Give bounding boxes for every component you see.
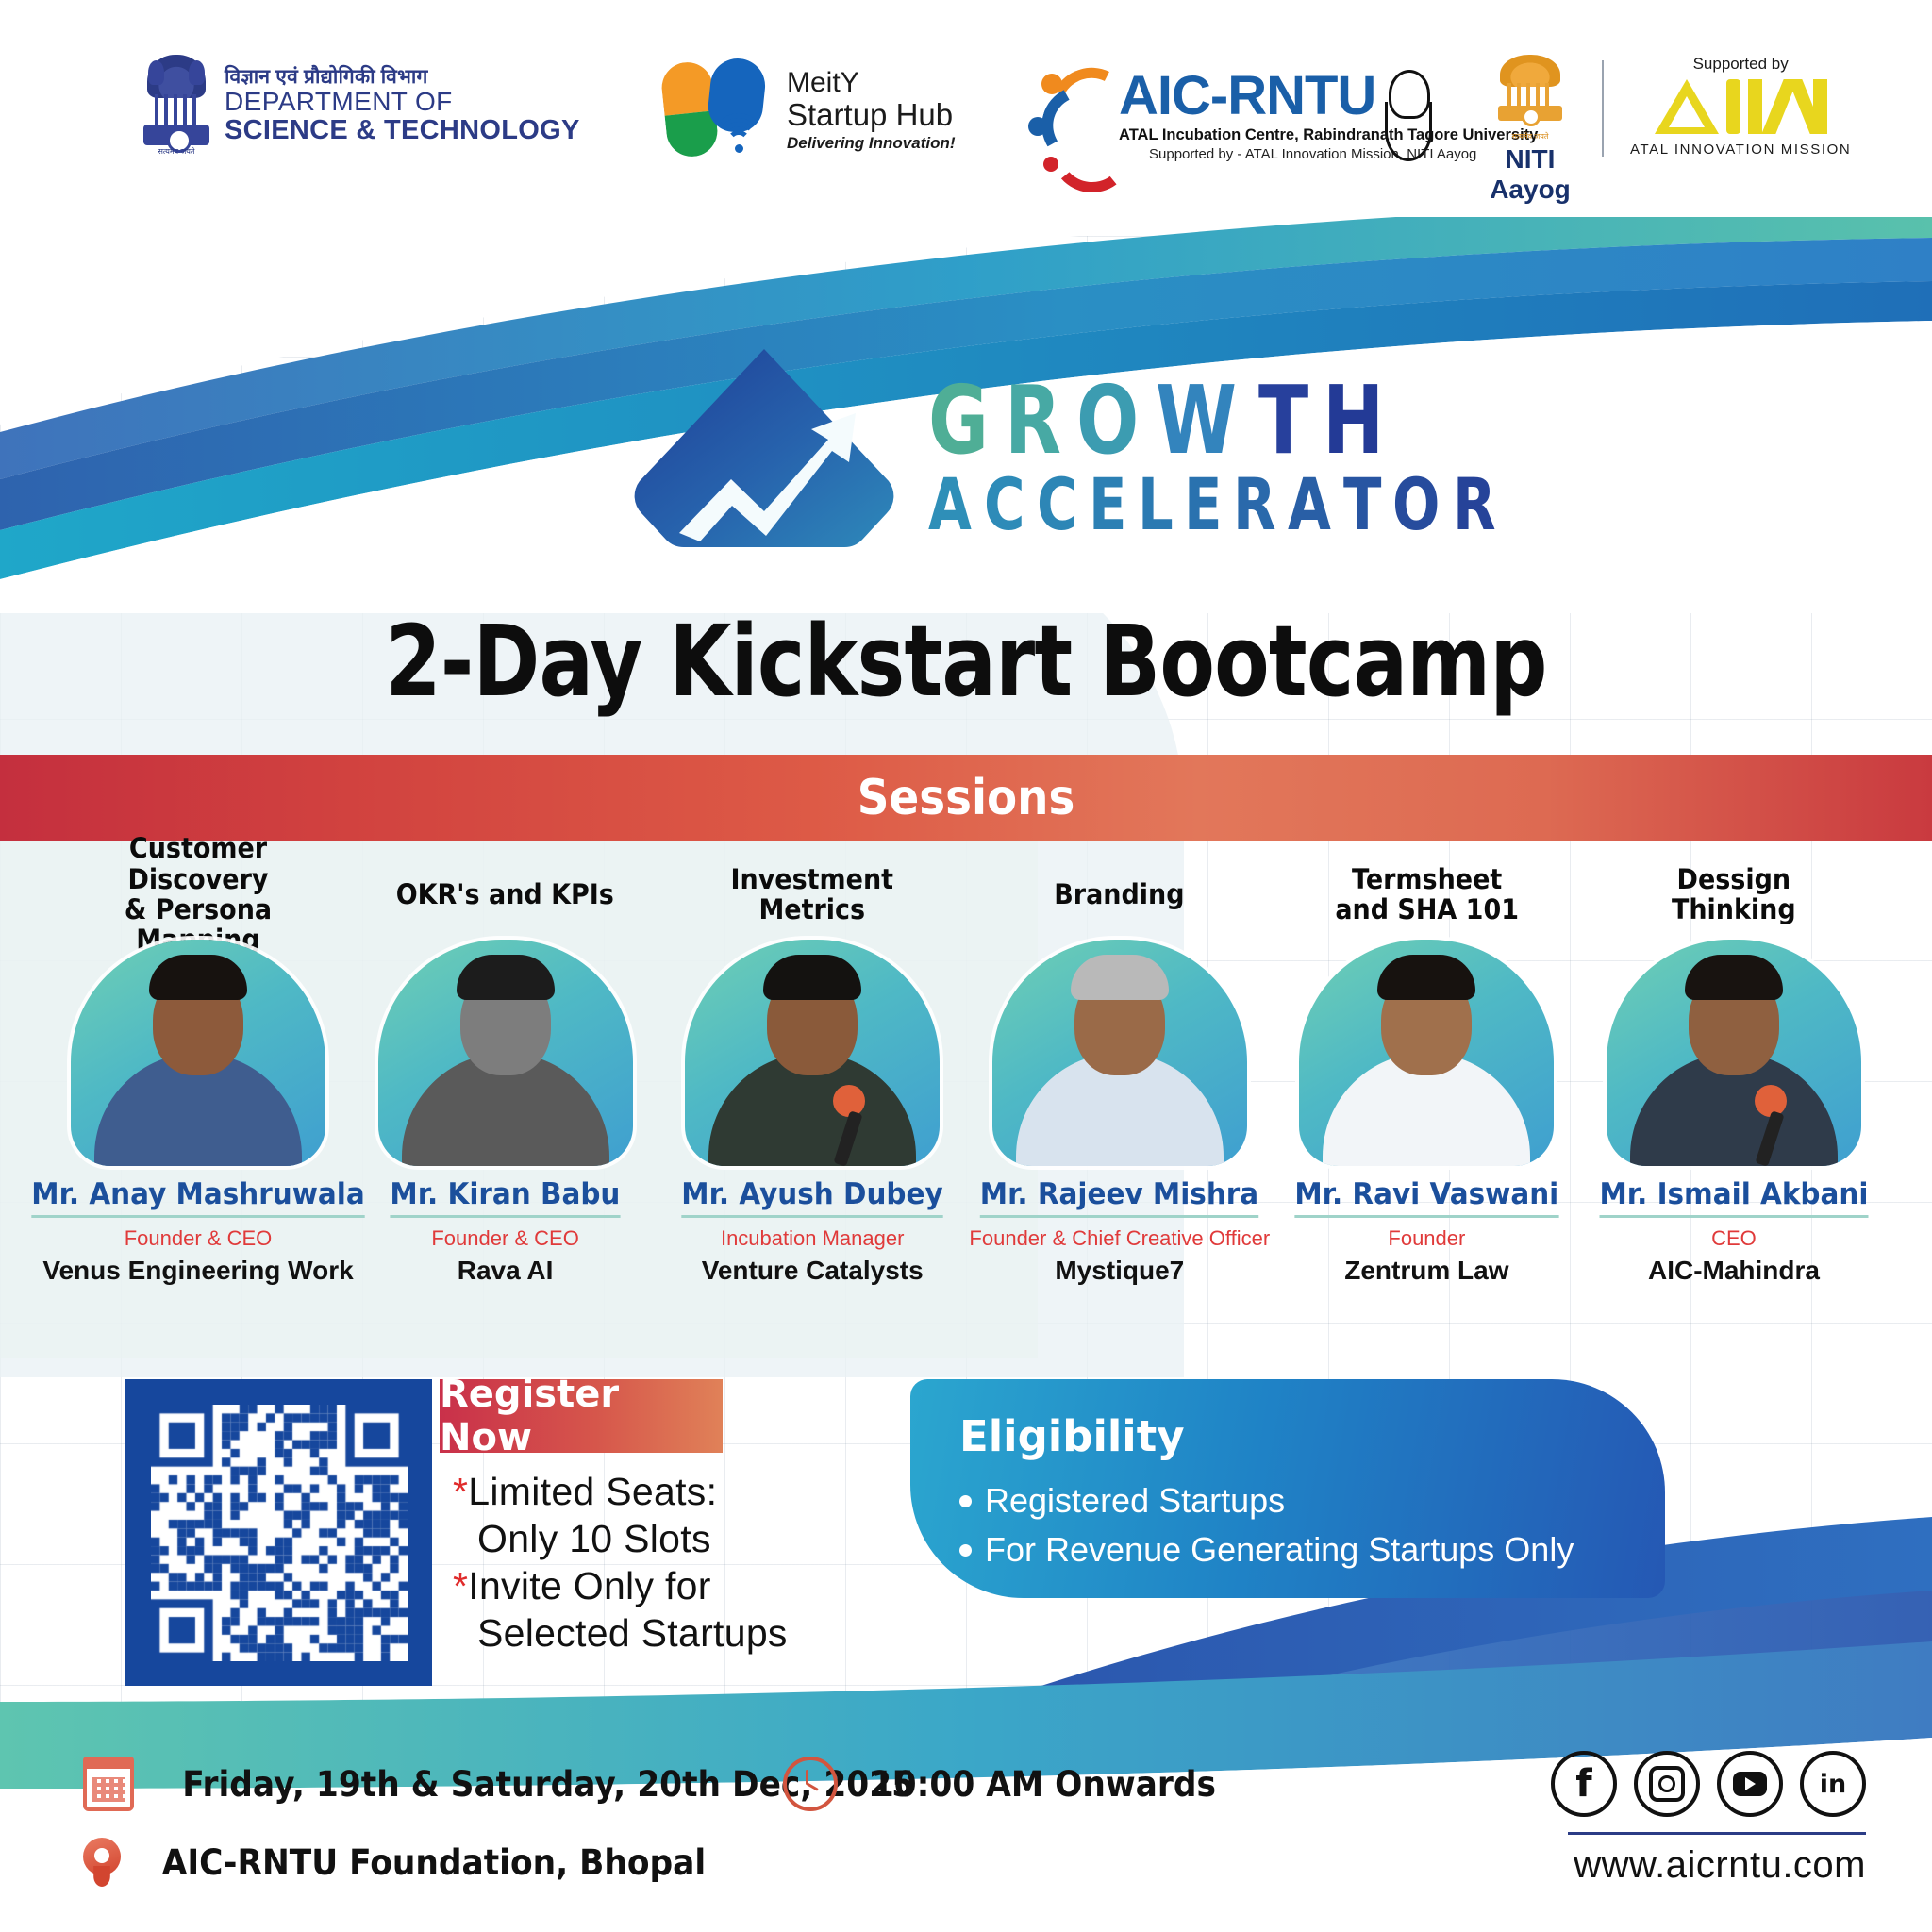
speaker-photo (378, 940, 633, 1166)
speaker-name: Mr. Rajeev Mishra (980, 1177, 1258, 1218)
speaker-name: Mr. Ayush Dubey (681, 1177, 942, 1218)
speaker-topic: OKR's and KPIs (396, 849, 614, 940)
register-note: *Limited Seats: (453, 1468, 849, 1515)
logo-department-of-science-technology: सत्यमेव जयते विज्ञान एवं प्रौद्योगिकी वि… (142, 55, 580, 157)
footer: Friday, 19th & Saturday, 20th Dec, 2025 … (0, 1734, 1932, 1932)
brand-word-accelerator: ACCELERATOR (928, 469, 1508, 541)
registration-qr-code[interactable] (151, 1405, 408, 1661)
ashoka-emblem-icon: सत्यमेव जयते (142, 55, 211, 157)
dst-line2: SCIENCE & TECHNOLOGY (225, 116, 580, 144)
speaker-name: Mr. Ismail Akbani (1599, 1177, 1868, 1218)
speaker-card: Termsheetand SHA 101Mr. Ravi VaswaniFoun… (1285, 849, 1568, 1340)
brand-word-growth: GROWTH (928, 375, 1508, 467)
speaker-card: OKR's and KPIsMr. Kiran BabuFounder & CE… (364, 849, 647, 1340)
logo-meity-startup-hub: MeitY Startup Hub Delivering Innovation! (660, 57, 956, 162)
speaker-photo (1299, 940, 1554, 1166)
aic-title: AIC-RNTU (1119, 64, 1375, 127)
speaker-topic: DessignThinking (1672, 849, 1796, 940)
speaker-name: Mr. Anay Mashruwala (31, 1177, 364, 1218)
speaker-photo (71, 940, 325, 1166)
partner-logo-strip: सत्यमेव जयते विज्ञान एवं प्रौद्योगिकी वि… (0, 0, 1932, 217)
bullet-icon (959, 1495, 972, 1507)
speaker-org: AIC-Mahindra (1648, 1256, 1820, 1286)
speaker-card: BrandingMr. Rajeev MishraFounder & Chief… (978, 849, 1261, 1340)
aim-block: Supported by ATAL INNOVATION MISSION (1630, 55, 1851, 158)
aic-subtitle-1: ATAL Incubation Centre, Rabindranath Tag… (1119, 126, 1538, 144)
facebook-icon[interactable]: f (1551, 1751, 1617, 1817)
niti-aayog-block: सत्यमेव जयते NITI Aayog (1481, 55, 1579, 205)
poster-root: सत्यमेव जयते विज्ञान एवं प्रौद्योगिकी वि… (0, 0, 1932, 1932)
logo-divider (1602, 60, 1604, 157)
speaker-photo (685, 940, 940, 1166)
register-now-banner[interactable]: Register Now (440, 1379, 723, 1453)
logo-niti-aayog-and-aim: सत्यमेव जयते NITI Aayog Supported by ATA… (1481, 55, 1851, 205)
register-note: Only 10 Slots (453, 1515, 849, 1562)
page-title: 2-Day Kickstart Bootcamp (174, 604, 1757, 719)
website-block[interactable]: www.aicrntu.com (1568, 1832, 1866, 1887)
speaker-org: Venus Engineering Work (42, 1256, 353, 1286)
speaker-topic: Branding (1055, 849, 1185, 940)
speaker-topic: Termsheetand SHA 101 (1335, 849, 1519, 940)
eligibility-list: Registered StartupsFor Revenue Generatin… (959, 1476, 1616, 1574)
speaker-role: Incubation Manager (721, 1226, 904, 1251)
footer-venue: AIC-RNTU Foundation, Bhopal (162, 1842, 706, 1883)
speaker-photo (992, 940, 1247, 1166)
speaker-role: Founder (1388, 1226, 1465, 1251)
register-note: Selected Startups (453, 1609, 849, 1657)
dst-hindi-text: विज्ञान एवं प्रौद्योगिकी विभाग (225, 67, 580, 88)
calendar-icon (83, 1757, 134, 1811)
speaker-org: Rava AI (458, 1256, 554, 1286)
eligibility-item: Registered Startups (959, 1476, 1616, 1525)
aim-mark-icon (1630, 75, 1851, 138)
wifi-icon (713, 113, 764, 155)
ashoka-emblem-orange-icon (1496, 55, 1564, 130)
meity-mark-icon (660, 57, 772, 162)
speaker-org: Venture Catalysts (702, 1256, 924, 1286)
tagore-portrait-icon (1379, 66, 1432, 164)
eligibility-panel: Eligibility Registered StartupsFor Reven… (910, 1379, 1665, 1598)
logo-aic-rntu: AIC-RNTU ATAL Incubation Centre, Rabindr… (1028, 58, 1424, 172)
sessions-banner-label: Sessions (858, 770, 1075, 826)
niti-label: NITI Aayog (1481, 144, 1579, 205)
footer-time-row: 10:00 AM Onwards (783, 1757, 1229, 1811)
eligibility-heading: Eligibility (959, 1411, 1616, 1461)
speaker-card: Customer Discovery& Persona MappingMr. A… (57, 849, 340, 1340)
location-pin-icon (83, 1838, 121, 1887)
speaker-org: Zentrum Law (1344, 1256, 1508, 1286)
dst-line1: DEPARTMENT OF (225, 88, 580, 115)
aim-supported-by: Supported by (1630, 55, 1851, 74)
meity-line1: MeitY (787, 67, 956, 98)
speaker-name: Mr. Kiran Babu (391, 1177, 621, 1218)
meity-line2: Startup Hub (787, 98, 956, 132)
speaker-role: Founder & CEO (431, 1226, 579, 1251)
speaker-card: InvestmentMetricsMr. Ayush DubeyIncubati… (671, 849, 954, 1340)
dst-motto: सत्यमेव जयते (142, 146, 211, 157)
registration-qr-panel[interactable] (125, 1379, 432, 1686)
website-url: www.aicrntu.com (1574, 1844, 1866, 1886)
speaker-role: CEO (1711, 1226, 1757, 1251)
instagram-icon[interactable] (1634, 1751, 1700, 1817)
growth-arrow-mark-icon (623, 340, 906, 575)
speaker-list: Customer Discovery& Persona MappingMr. A… (0, 849, 1932, 1340)
speaker-card: DessignThinkingMr. Ismail AkbaniCEOAIC-M… (1592, 849, 1875, 1340)
speaker-org: Mystique7 (1055, 1256, 1184, 1286)
social-links: f in (1551, 1751, 1866, 1817)
speaker-role: Founder & CEO (125, 1226, 273, 1251)
clock-icon (783, 1757, 838, 1811)
speaker-photo (1607, 940, 1861, 1166)
youtube-icon[interactable] (1717, 1751, 1783, 1817)
register-now-label: Register Now (440, 1373, 723, 1459)
linkedin-icon[interactable]: in (1800, 1751, 1866, 1817)
bullet-icon (959, 1544, 972, 1557)
sessions-banner: Sessions (0, 755, 1932, 841)
aim-caption: ATAL INNOVATION MISSION (1630, 142, 1851, 158)
speaker-topic: Customer Discovery& Persona Mapping (67, 849, 330, 940)
eligibility-item: For Revenue Generating Startups Only (959, 1525, 1616, 1574)
niti-motto: सत्यमेव जयते (1481, 131, 1579, 142)
speaker-name: Mr. Ravi Vaswani (1294, 1177, 1558, 1218)
register-notes: *Limited Seats:Only 10 Slots*Invite Only… (453, 1468, 849, 1657)
meity-tagline: Delivering Innovation! (787, 135, 956, 153)
growth-accelerator-logo: GROWTH ACCELERATOR (623, 340, 1340, 575)
footer-venue-row: AIC-RNTU Foundation, Bhopal (83, 1838, 726, 1887)
register-note: *Invite Only for (453, 1562, 849, 1609)
footer-time: 10:00 AM Onwards (872, 1764, 1216, 1805)
speaker-role: Founder & Chief Creative Officer (969, 1226, 1270, 1251)
speaker-topic: InvestmentMetrics (731, 849, 894, 940)
website-rule (1568, 1832, 1866, 1835)
